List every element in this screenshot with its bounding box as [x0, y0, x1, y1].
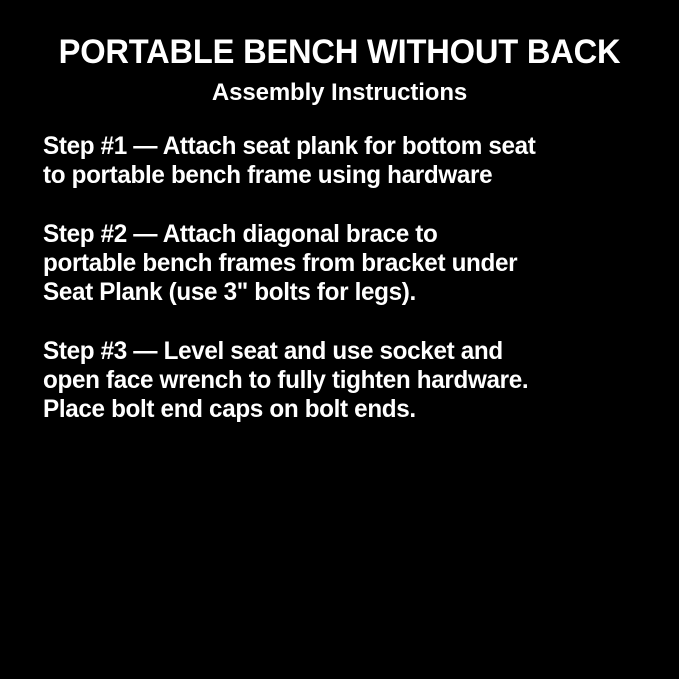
step-3-text: Step #3 — Level seat and use socket and …: [43, 337, 639, 424]
step-item-1: Step #1 — Attach seat plank for bottom s…: [43, 132, 657, 190]
step-1-text: Step #1 — Attach seat plank for bottom s…: [43, 132, 639, 190]
step-item-2: Step #2 — Attach diagonal brace to porta…: [43, 220, 657, 307]
poster-header: PORTABLE BENCH WITHOUT BACK Assembly Ins…: [0, 0, 679, 108]
page-subtitle: Assembly Instructions: [0, 78, 679, 108]
page-title: PORTABLE BENCH WITHOUT BACK: [14, 32, 666, 72]
step-2-text: Step #2 — Attach diagonal brace to porta…: [43, 220, 639, 307]
steps-list: Step #1 — Attach seat plank for bottom s…: [0, 132, 679, 424]
step-item-3: Step #3 — Level seat and use socket and …: [43, 337, 657, 424]
instruction-poster: PORTABLE BENCH WITHOUT BACK Assembly Ins…: [0, 0, 679, 679]
